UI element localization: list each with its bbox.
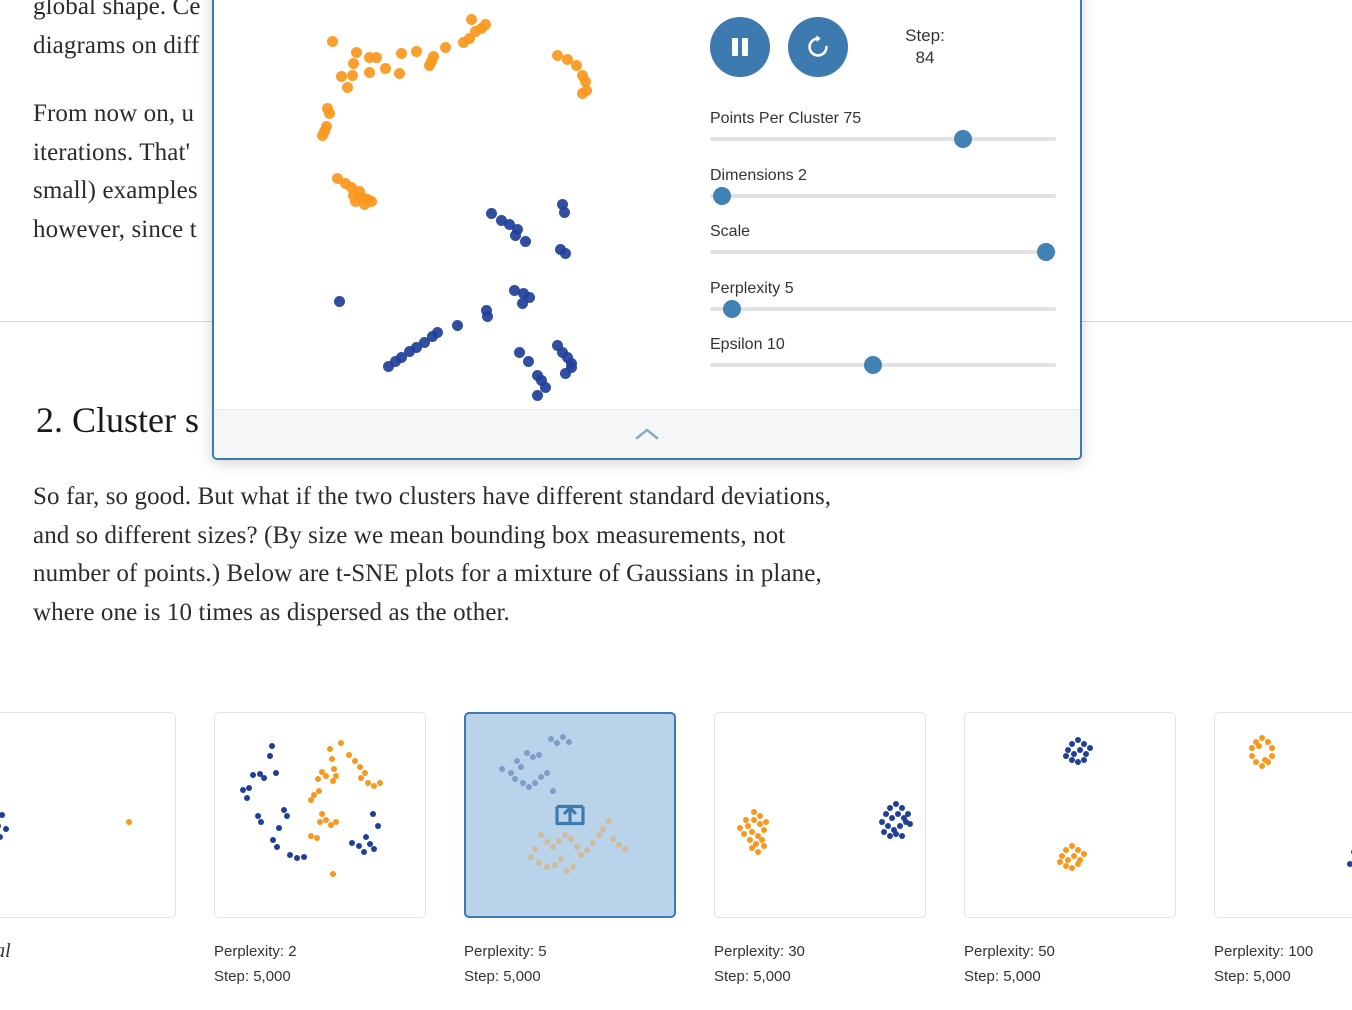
scatter-point: [517, 298, 528, 309]
scatter-point: [351, 47, 362, 58]
scatter-point: [520, 236, 531, 247]
pause-button[interactable]: [710, 17, 770, 77]
slider-thumb-perplexity[interactable]: [723, 300, 741, 318]
thumbnail-point: [610, 836, 616, 842]
scatter-point: [336, 71, 347, 82]
thumbnail-point: [375, 823, 381, 829]
thumbnail-point: [331, 766, 337, 772]
thumbnail-point: [743, 817, 749, 823]
thumbnail-point: [550, 788, 556, 794]
thumbnail-plot-perplexity-50[interactable]: [964, 712, 1176, 918]
scatter-point: [440, 42, 451, 53]
thumbnail-point: [316, 788, 322, 794]
thumbnail-point: [301, 854, 307, 860]
thumbnail-point: [356, 843, 362, 849]
thumbnail-caption-perplexity-2: Perplexity: 2Step: 5,000: [214, 939, 440, 989]
thumbnail-point: [885, 823, 891, 829]
thumbnail-point: [371, 783, 377, 789]
thumbnail-point: [269, 743, 275, 749]
slider-thumb-epsilon[interactable]: [864, 356, 882, 374]
thumbnail-plot-perplexity-2[interactable]: [214, 712, 426, 918]
thumbnail-point: [755, 849, 761, 855]
thumbnail-point: [323, 773, 329, 779]
slider-label-dimensions: Dimensions 2: [710, 167, 1056, 185]
thumbnail-point: [250, 772, 256, 778]
scatter-point: [452, 320, 463, 331]
thumbnail-point: [596, 832, 602, 838]
thumbnail-point: [905, 811, 911, 817]
thumbnail-point: [287, 852, 293, 858]
scatter-point: [532, 390, 543, 401]
thumbnail-point: [883, 811, 889, 817]
thumbnail-point: [757, 813, 763, 819]
scatter-point: [364, 67, 375, 78]
scatter-point: [396, 48, 407, 59]
slider-perplexity[interactable]: Perplexity 5: [710, 280, 1056, 311]
thumbnail-point: [895, 811, 901, 817]
thumbnail-point: [1269, 745, 1275, 751]
scatter-point: [424, 60, 435, 71]
thumbnail-point: [338, 740, 344, 746]
thumbnail-point: [1081, 757, 1087, 763]
thumbnail-caption-line: Perplexity: 2: [214, 939, 440, 964]
thumbnail-point: [747, 837, 753, 843]
thumbnail-point: [564, 868, 570, 874]
thumbnail-point: [330, 871, 336, 877]
thumbnail-caption-original: iginal: [0, 939, 190, 964]
thumbnail-point: [749, 829, 755, 835]
thumbnail-point: [741, 831, 747, 837]
playback-controls: Step: 84: [710, 17, 962, 77]
thumbnail-point: [737, 825, 743, 831]
slider-scale[interactable]: Scale: [710, 223, 1056, 254]
scatter-point: [482, 311, 493, 322]
thumbnail-caption-line: Perplexity: 50: [964, 939, 1190, 964]
thumbnail-point: [327, 746, 333, 752]
slider-track-points-per-cluster[interactable]: [710, 137, 1056, 141]
thumbnail-point: [520, 780, 526, 786]
thumbnail-point: [897, 823, 903, 829]
thumbnail-point: [274, 844, 280, 850]
thumbnail-point: [0, 823, 1, 829]
thumbnail-point: [893, 801, 899, 807]
thumbnail-point: [1071, 853, 1077, 859]
thumbnail-point: [536, 860, 542, 866]
thumbnail-point: [544, 770, 550, 776]
thumbnail-point: [1075, 737, 1081, 743]
thumbnail-caption-perplexity-50: Perplexity: 50Step: 5,000: [964, 939, 1190, 989]
thumbnail-point: [899, 833, 905, 839]
thumbnail-point: [329, 756, 335, 762]
thumbnail-point: [246, 785, 252, 791]
thumbnail-point: [518, 764, 524, 770]
thumbnail-point: [514, 758, 520, 764]
thumbnail-point: [346, 752, 352, 758]
thumbnail-point: [319, 811, 325, 817]
thumbnail-point: [899, 805, 905, 811]
thumbnail-point: [606, 818, 612, 824]
thumbnail-point: [763, 819, 769, 825]
demo-panel-body: Step: 84 Points Per Cluster 75 Dimension…: [214, 0, 1080, 411]
scatter-point: [324, 108, 335, 119]
thumbnail-point: [1256, 743, 1262, 749]
slider-thumb-dimensions[interactable]: [713, 187, 731, 205]
thumbnail-point: [276, 825, 282, 831]
thumbnail-point: [508, 770, 514, 776]
thumbnail-point: [1087, 745, 1093, 751]
thumbnail-point: [294, 855, 300, 861]
scatter-point: [334, 296, 345, 307]
thumbnail-caption-line: Perplexity: 30: [714, 939, 940, 964]
paragraph-3: So far, so good. But what if the two clu…: [33, 478, 853, 632]
scatter-point: [348, 58, 359, 69]
thumbnail-point: [745, 823, 751, 829]
thumbnail-point: [562, 832, 568, 838]
scatter-point: [383, 361, 394, 372]
thumbnail-point: [532, 780, 538, 786]
scatter-point: [327, 36, 338, 47]
scatter-plot-canvas: [214, 0, 694, 411]
thumbnail-caption-perplexity-100: Perplexity: 100Step: 5,000: [1214, 939, 1352, 989]
thumbnail-card-original[interactable]: iginal: [0, 712, 190, 964]
thumbnail-point: [1249, 745, 1255, 751]
slider-track-dimensions[interactable]: [710, 194, 1056, 198]
thumbnail-point: [550, 844, 556, 850]
pause-icon: [729, 35, 751, 59]
thumbnail-point: [616, 842, 622, 848]
thumbnail-card-perplexity-100[interactable]: Perplexity: 100Step: 5,000: [1214, 712, 1352, 989]
scatter-point: [394, 68, 405, 79]
thumbnail-point: [544, 864, 550, 870]
slider-track-perplexity[interactable]: [710, 307, 1056, 311]
thumbnail-point: [1081, 851, 1087, 857]
thumbnail-point: [528, 854, 534, 860]
slider-track-scale[interactable]: [710, 250, 1056, 254]
thumbnail-caption-line: Step: 5,000: [964, 964, 1190, 989]
thumbnail-plot-perplexity-5[interactable]: [464, 712, 676, 918]
thumbnail-card-perplexity-2[interactable]: Perplexity: 2Step: 5,000: [214, 712, 440, 989]
thumbnail-point: [590, 840, 596, 846]
step-label: Step:: [888, 25, 962, 47]
thumbnail-caption-line: Step: 5,000: [464, 964, 690, 989]
thumbnail-point: [270, 837, 276, 843]
thumbnail-point: [749, 845, 755, 851]
slider-thumb-scale[interactable]: [1037, 243, 1055, 261]
thumbnail-point: [1063, 847, 1069, 853]
thumbnail-point: [315, 776, 321, 782]
tsne-demo-panel: Step: 84 Points Per Cluster 75 Dimension…: [212, 0, 1082, 460]
thumbnail-point: [1259, 735, 1265, 741]
scatter-point: [559, 207, 570, 218]
thumbnail-point: [1253, 759, 1259, 765]
thumbnail-point: [244, 795, 250, 801]
thumbnail-point: [1069, 843, 1075, 849]
thumbnail-card-perplexity-30[interactable]: Perplexity: 30Step: 5,000: [714, 712, 940, 989]
thumbnail-point: [570, 864, 576, 870]
scatter-point: [366, 196, 377, 207]
thumbnail-point: [352, 758, 358, 764]
scatter-point: [347, 70, 358, 81]
thumbnail-point: [1259, 763, 1265, 769]
thumbnail-point: [284, 813, 290, 819]
thumbnail-caption-perplexity-5: Perplexity: 5Step: 5,000: [464, 939, 690, 989]
slider-dimensions[interactable]: Dimensions 2: [710, 167, 1056, 198]
thumbnail-point: [258, 819, 264, 825]
thumbnail-point: [554, 740, 560, 746]
thumbnail-point: [357, 764, 363, 770]
thumbnail-point: [881, 829, 887, 835]
thumbnail-point: [267, 753, 273, 759]
thumbnail-point: [1347, 861, 1352, 867]
thumbnail-point: [1069, 865, 1075, 871]
thumbnail-point: [560, 734, 566, 740]
thumbnail-caption-perplexity-30: Perplexity: 30Step: 5,000: [714, 939, 940, 989]
thumbnail-point: [371, 846, 377, 852]
thumbnail-point: [600, 826, 606, 832]
thumbnail-point: [568, 836, 574, 842]
slider-thumb-points-per-cluster[interactable]: [954, 130, 972, 148]
thumbnail-point: [566, 739, 572, 745]
scatter-point: [560, 248, 571, 259]
slider-label-points-per-cluster: Points Per Cluster 75: [710, 110, 1056, 128]
thumbnail-point: [499, 766, 505, 772]
scatter-point: [380, 63, 391, 74]
thumbnail-point: [363, 834, 369, 840]
thumbnail-plot-perplexity-100[interactable]: [1214, 712, 1352, 918]
thumbnail-point: [261, 775, 267, 781]
thumbnail-point: [0, 812, 5, 818]
restart-button[interactable]: [788, 17, 848, 77]
thumbnail-point: [544, 839, 550, 845]
slider-epsilon[interactable]: Epsilon 10: [710, 336, 1056, 367]
thumbnail-point: [887, 805, 893, 811]
thumbnail-point: [622, 846, 628, 852]
scatter-point: [411, 46, 422, 57]
thumbnail-point: [273, 770, 279, 776]
thumbnail-point: [314, 835, 320, 841]
thumbnail-point: [578, 852, 584, 858]
thumbnail-point: [1057, 859, 1063, 865]
demo-controls: Step: 84 Points Per Cluster 75 Dimension…: [694, 0, 1080, 411]
thumbnail-caption-line: Perplexity: 5: [464, 939, 690, 964]
scatter-point: [371, 52, 382, 63]
thumbnail-point: [907, 821, 913, 827]
thumbnail-point: [558, 856, 564, 862]
thumbnail-point: [761, 843, 767, 849]
thumbnail-point: [361, 849, 367, 855]
thumbnail-point: [1063, 753, 1069, 759]
thumbnail-point: [1269, 753, 1275, 759]
thumbnail-point: [308, 797, 314, 803]
thumbnail-point: [333, 773, 339, 779]
thumbnail-point: [889, 815, 895, 821]
scatter-point: [350, 196, 361, 207]
thumbnail-caption-line: Perplexity: 100: [1214, 939, 1352, 964]
thumbnail-point: [751, 817, 757, 823]
thumbnail-point: [552, 862, 558, 868]
scatter-point: [577, 88, 588, 99]
thumbnail-caption-line: iginal: [0, 939, 190, 964]
slider-points-per-cluster[interactable]: Points Per Cluster 75: [710, 110, 1056, 141]
thumbnail-caption-line: Step: 5,000: [714, 964, 940, 989]
thumbnail-point: [584, 847, 590, 853]
scatter-point: [480, 19, 491, 30]
scatter-point: [342, 82, 353, 93]
scatter-point: [514, 347, 525, 358]
thumbnail-caption-line: Step: 5,000: [214, 964, 440, 989]
scatter-point: [523, 356, 534, 367]
step-value: 84: [888, 47, 962, 69]
thumbnail-point: [532, 846, 538, 852]
slider-label-epsilon: Epsilon 10: [710, 336, 1056, 354]
thumbnail-point: [1075, 861, 1081, 867]
thumbnail-card-perplexity-5[interactable]: Perplexity: 5Step: 5,000: [464, 712, 690, 989]
thumbnail-point: [1077, 747, 1083, 753]
perplexity-thumbnail-strip: iginalPerplexity: 2Step: 5,000Perplexity…: [0, 712, 1352, 989]
thumbnail-point: [0, 834, 3, 840]
thumbnail-point: [1069, 741, 1075, 747]
thumbnail-point: [512, 776, 518, 782]
thumbnail-point: [548, 736, 554, 742]
thumbnail-point: [3, 826, 9, 832]
thumbnail-point: [556, 838, 562, 844]
thumbnail-point: [358, 775, 364, 781]
scatter-point: [486, 208, 497, 219]
refresh-icon: [805, 34, 831, 60]
thumbnail-point: [1075, 847, 1081, 853]
thumbnail-plot-perplexity-30[interactable]: [714, 712, 926, 918]
slider-label-perplexity: Perplexity 5: [710, 280, 1056, 298]
slider-label-scale: Scale: [710, 223, 1056, 241]
thumbnail-point: [1265, 739, 1271, 745]
collapse-panel-button[interactable]: [214, 409, 1080, 458]
scatter-point: [560, 368, 571, 379]
thumbnail-point: [526, 784, 532, 790]
thumbnail-point: [538, 832, 544, 838]
thumbnail-point: [538, 774, 544, 780]
scatter-plot[interactable]: [214, 0, 694, 411]
step-readout: Step: 84: [888, 25, 962, 69]
thumbnail-point: [1249, 753, 1255, 759]
thumbnail-point: [536, 752, 542, 758]
thumbnail-point: [751, 809, 757, 815]
page-title: 2. Cluster s: [36, 398, 199, 442]
thumbnail-card-perplexity-50[interactable]: Perplexity: 50Step: 5,000: [964, 712, 1190, 989]
thumbnail-point: [333, 819, 339, 825]
thumbnail-point: [524, 750, 530, 756]
scatter-point: [317, 130, 328, 141]
thumbnail-point: [1262, 757, 1268, 763]
thumbnail-point: [574, 844, 580, 850]
scatter-point: [466, 14, 477, 25]
slider-track-epsilon[interactable]: [710, 363, 1056, 367]
thumbnail-point: [349, 840, 355, 846]
thumbnail-plot-original[interactable]: [0, 712, 176, 918]
thumbnail-point: [126, 819, 132, 825]
thumbnail-point: [370, 811, 376, 817]
thumbnail-point: [1081, 741, 1087, 747]
thumbnail-caption-line: Step: 5,000: [1214, 964, 1352, 989]
thumbnail-point: [761, 827, 767, 833]
chevron-up-icon: [634, 427, 660, 442]
thumbnail-point: [879, 819, 885, 825]
open-in-viewer-icon[interactable]: [554, 798, 586, 833]
thumbnail-point: [377, 780, 383, 786]
